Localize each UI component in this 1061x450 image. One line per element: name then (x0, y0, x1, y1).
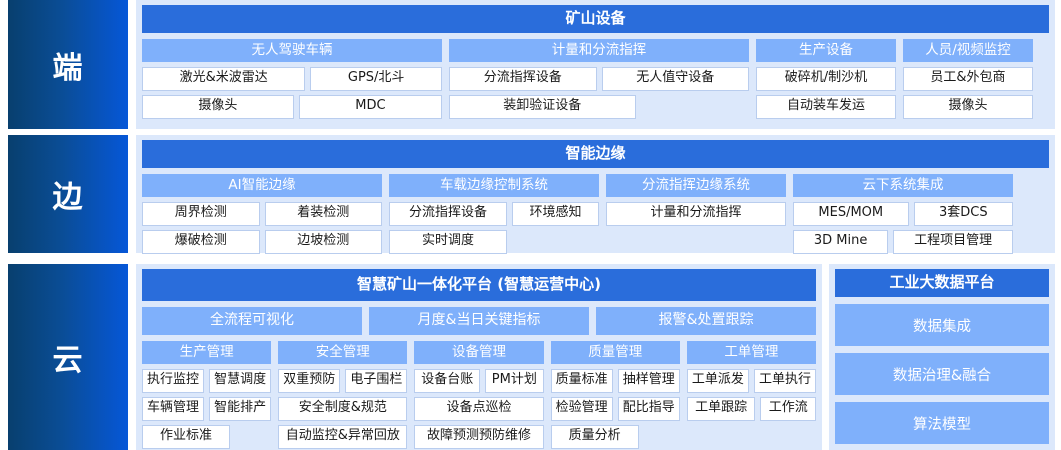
item-cell[interactable]: 摄像头 (142, 95, 294, 119)
panel-title-mine-equipment: 矿山设备 (142, 5, 1049, 33)
group-metering-dispatch: 计量和分流指挥 分流指挥设备 无人值守设备 装卸验证设备 (449, 39, 749, 123)
group-head-safety-management: 安全管理 (278, 341, 407, 364)
bigdata-card[interactable]: 数据治理&融合 (835, 353, 1049, 395)
group-items-vehicle-edge-control: 分流指挥设备 环境感知 实时调度 (389, 202, 599, 254)
item-cell[interactable]: 着装检测 (265, 202, 383, 226)
item-row: 自动监控&异常回放 (278, 425, 407, 449)
item-cell[interactable]: 爆破检测 (142, 230, 260, 254)
item-row: 工单派发 工单执行 (687, 369, 816, 393)
item-cell[interactable]: 激光&米波雷达 (142, 67, 305, 91)
item-cell[interactable]: 摄像头 (903, 95, 1033, 119)
layer-cloud: 云 智慧矿山一体化平台 (智慧运营中心) 全流程可视化 月度&当日关键指标 报警… (0, 264, 1061, 450)
group-workorder-management: 工单管理 工单派发 工单执行 工单跟踪 工作流 (687, 341, 816, 449)
item-cell[interactable]: 检验管理 (551, 397, 613, 421)
bigdata-card[interactable]: 算法模型 (835, 402, 1049, 444)
item-cell[interactable]: 3套DCS (914, 202, 1013, 226)
item-row: 自动装车发运 (756, 95, 896, 119)
item-cell[interactable]: 边坡检测 (265, 230, 383, 254)
item-row: 安全制度&规范 (278, 397, 407, 421)
group-head-cloud-system-integration: 云下系统集成 (793, 174, 1013, 197)
item-cell[interactable]: 工作流 (760, 397, 816, 421)
item-cell[interactable]: 员工&外包商 (903, 67, 1033, 91)
panel-industrial-bigdata: 工业大数据平台 数据集成 数据治理&融合 算法模型 (829, 264, 1055, 450)
panel-intelligent-edge: 智能边缘 AI智能边缘 周界检测 着装检测 爆破检测 边坡检测 (136, 135, 1055, 253)
item-row: 设备点巡检 (414, 397, 543, 421)
item-cell[interactable]: 工单派发 (687, 369, 749, 393)
item-row: 故障预测预防维修 (414, 425, 543, 449)
item-row: 分流指挥设备 无人值守设备 (449, 67, 749, 91)
item-row (687, 425, 816, 447)
item-cell[interactable]: 车辆管理 (142, 397, 204, 421)
group-vehicle-edge-control: 车载边缘控制系统 分流指挥设备 环境感知 实时调度 (389, 174, 599, 254)
layer-edge: 边 智能边缘 AI智能边缘 周界检测 着装检测 爆破检测 (0, 135, 1061, 253)
banner-row: 全流程可视化 月度&当日关键指标 报警&处置跟踪 (142, 307, 816, 335)
item-cell[interactable]: 智能排产 (209, 397, 271, 421)
item-row: 激光&米波雷达 GPS/北斗 (142, 67, 442, 91)
group-head-metering-dispatch: 计量和分流指挥 (449, 39, 749, 62)
item-cell-empty (512, 230, 599, 254)
group-unmanned-vehicle: 无人驾驶车辆 激光&米波雷达 GPS/北斗 摄像头 MDC (142, 39, 442, 123)
bigdata-card-stack: 数据集成 数据治理&融合 算法模型 (835, 304, 1049, 444)
item-cell[interactable]: 工单执行 (754, 369, 816, 393)
group-strip-cloud: 生产管理 执行监控 智慧调度 车辆管理 智能排产 作业标准 (142, 341, 816, 449)
panel-title-smart-mine-platform: 智慧矿山一体化平台 (智慧运营中心) (142, 269, 816, 301)
group-items-workorder-management: 工单派发 工单执行 工单跟踪 工作流 (687, 369, 816, 447)
item-cell-empty (687, 425, 749, 447)
item-cell[interactable]: 故障预测预防维修 (414, 425, 543, 449)
item-cell[interactable]: 实时调度 (389, 230, 507, 254)
panel-title-intelligent-edge: 智能边缘 (142, 140, 1049, 168)
group-cloud-system-integration: 云下系统集成 MES/MOM 3套DCS 3D Mine 工程项目管理 (793, 174, 1013, 254)
item-row: 质量标准 抽样管理 (551, 369, 680, 393)
group-items-personnel-video: 员工&外包商 摄像头 (903, 67, 1033, 119)
group-items-quality-management: 质量标准 抽样管理 检验管理 配比指导 质量分析 (551, 369, 680, 449)
item-cell[interactable]: 双重预防 (278, 369, 340, 393)
item-cell-empty (606, 230, 786, 252)
item-row: 摄像头 (903, 95, 1033, 119)
item-row: 分流指挥设备 环境感知 (389, 202, 599, 226)
layer-label-edge: 边 (8, 135, 128, 253)
item-cell[interactable]: 工程项目管理 (893, 230, 1013, 254)
item-cell[interactable]: 自动监控&异常回放 (278, 425, 407, 449)
item-cell[interactable]: 计量和分流指挥 (606, 202, 786, 226)
item-cell[interactable]: 环境感知 (512, 202, 599, 226)
item-row: 3D Mine 工程项目管理 (793, 230, 1013, 254)
group-items-unmanned-vehicle: 激光&米波雷达 GPS/北斗 摄像头 MDC (142, 67, 442, 119)
panel-mine-equipment: 矿山设备 无人驾驶车辆 激光&米波雷达 GPS/北斗 摄像头 MDC (136, 0, 1055, 129)
item-cell[interactable]: 自动装车发运 (756, 95, 896, 119)
bigdata-card[interactable]: 数据集成 (835, 304, 1049, 346)
item-row: 破碎机/制沙机 (756, 67, 896, 91)
group-quality-management: 质量管理 质量标准 抽样管理 检验管理 配比指导 质量分析 (551, 341, 680, 449)
item-cell[interactable]: MDC (299, 95, 442, 119)
group-head-dispatch-edge-system: 分流指挥边缘系统 (606, 174, 786, 197)
item-row: 爆破检测 边坡检测 (142, 230, 382, 254)
group-strip-end: 无人驾驶车辆 激光&米波雷达 GPS/北斗 摄像头 MDC (142, 39, 1049, 123)
item-cell[interactable]: 配比指导 (618, 397, 680, 421)
item-row (606, 230, 786, 252)
item-row: 实时调度 (389, 230, 599, 254)
item-row: 工单跟踪 工作流 (687, 397, 816, 421)
item-cell[interactable]: 质量分析 (551, 425, 639, 449)
group-items-equipment-management: 设备台账 PM计划 设备点巡检 故障预测预防维修 (414, 369, 543, 449)
item-row: 计量和分流指挥 (606, 202, 786, 226)
group-head-production-management: 生产管理 (142, 341, 271, 364)
group-ai-edge: AI智能边缘 周界检测 着装检测 爆破检测 边坡检测 (142, 174, 382, 254)
group-equipment-management: 设备管理 设备台账 PM计划 设备点巡检 故障预测预防维修 (414, 341, 543, 449)
group-items-ai-edge: 周界检测 着装检测 爆破检测 边坡检测 (142, 202, 382, 254)
item-row: 装卸验证设备 (449, 95, 749, 119)
item-cell[interactable]: 执行监控 (142, 369, 204, 393)
item-row: 检验管理 配比指导 (551, 397, 680, 421)
item-row: 周界检测 着装检测 (142, 202, 382, 226)
group-head-equipment-management: 设备管理 (414, 341, 543, 364)
item-cell[interactable]: 无人值守设备 (602, 67, 750, 91)
group-head-ai-edge: AI智能边缘 (142, 174, 382, 197)
item-row: 执行监控 智慧调度 (142, 369, 271, 393)
group-items-production-management: 执行监控 智慧调度 车辆管理 智能排产 作业标准 (142, 369, 271, 449)
item-row: 设备台账 PM计划 (414, 369, 543, 393)
item-cell-empty (644, 425, 680, 449)
architecture-diagram: 端 矿山设备 无人驾驶车辆 激光&米波雷达 GPS/北斗 摄像头 (0, 0, 1061, 450)
item-cell-empty (641, 95, 750, 119)
layer-label-cloud: 云 (8, 264, 128, 450)
item-row: 双重预防 电子围栏 (278, 369, 407, 393)
layer-body-cloud: 智慧矿山一体化平台 (智慧运营中心) 全流程可视化 月度&当日关键指标 报警&处… (136, 264, 1055, 450)
item-cell[interactable]: 抽样管理 (618, 369, 680, 393)
group-items-dispatch-edge-system: 计量和分流指挥 (606, 202, 786, 252)
item-cell[interactable]: GPS/北斗 (310, 67, 442, 91)
group-head-quality-management: 质量管理 (551, 341, 680, 364)
panel-title-industrial-bigdata: 工业大数据平台 (835, 269, 1049, 297)
group-production-management: 生产管理 执行监控 智慧调度 车辆管理 智能排产 作业标准 (142, 341, 271, 449)
group-head-production-equipment: 生产设备 (756, 39, 896, 62)
group-dispatch-edge-system: 分流指挥边缘系统 计量和分流指挥 (606, 174, 786, 254)
item-cell-empty (235, 425, 271, 449)
layer-body-end: 矿山设备 无人驾驶车辆 激光&米波雷达 GPS/北斗 摄像头 MDC (136, 0, 1055, 129)
group-head-workorder-management: 工单管理 (687, 341, 816, 364)
item-row: 员工&外包商 (903, 67, 1033, 91)
item-cell[interactable]: 装卸验证设备 (449, 95, 636, 119)
item-cell[interactable]: 3D Mine (793, 230, 888, 254)
item-cell[interactable]: 分流指挥设备 (389, 202, 507, 226)
item-cell[interactable]: 作业标准 (142, 425, 230, 449)
item-cell[interactable]: 分流指挥设备 (449, 67, 597, 91)
group-personnel-video: 人员/视频监控 员工&外包商 摄像头 (903, 39, 1033, 123)
item-cell[interactable]: 电子围栏 (345, 369, 407, 393)
item-row: 摄像头 MDC (142, 95, 442, 119)
group-items-safety-management: 双重预防 电子围栏 安全制度&规范 自动监控&异常回放 (278, 369, 407, 449)
banner-card[interactable]: 月度&当日关键指标 (369, 307, 589, 335)
item-row: 作业标准 (142, 425, 271, 449)
group-items-metering-dispatch: 分流指挥设备 无人值守设备 装卸验证设备 (449, 67, 749, 119)
group-items-cloud-system-integration: MES/MOM 3套DCS 3D Mine 工程项目管理 (793, 202, 1013, 254)
item-row: 质量分析 (551, 425, 680, 449)
item-cell[interactable]: 安全制度&规范 (278, 397, 407, 421)
group-head-unmanned-vehicle: 无人驾驶车辆 (142, 39, 442, 62)
layer-label-end: 端 (8, 0, 128, 129)
item-cell[interactable]: MES/MOM (793, 202, 909, 226)
item-cell[interactable]: PM计划 (485, 369, 544, 393)
layer-end: 端 矿山设备 无人驾驶车辆 激光&米波雷达 GPS/北斗 摄像头 (0, 0, 1061, 129)
layer-body-edge: 智能边缘 AI智能边缘 周界检测 着装检测 爆破检测 边坡检测 (136, 135, 1055, 253)
group-strip-edge: AI智能边缘 周界检测 着装检测 爆破检测 边坡检测 (142, 174, 1049, 254)
group-items-production-equipment: 破碎机/制沙机 自动装车发运 (756, 67, 896, 119)
item-cell[interactable]: 设备点巡检 (414, 397, 543, 421)
banner-card[interactable]: 全流程可视化 (142, 307, 362, 335)
group-safety-management: 安全管理 双重预防 电子围栏 安全制度&规范 自动监控&异常回放 (278, 341, 407, 449)
item-cell[interactable]: 质量标准 (551, 369, 613, 393)
group-production-equipment: 生产设备 破碎机/制沙机 自动装车发运 (756, 39, 896, 123)
panel-smart-mine-platform: 智慧矿山一体化平台 (智慧运营中心) 全流程可视化 月度&当日关键指标 报警&处… (136, 264, 822, 450)
item-cell[interactable]: 设备台账 (414, 369, 480, 393)
item-cell[interactable]: 破碎机/制沙机 (756, 67, 896, 91)
item-row: 车辆管理 智能排产 (142, 397, 271, 421)
group-head-personnel-video: 人员/视频监控 (903, 39, 1033, 62)
group-head-vehicle-edge-control: 车载边缘控制系统 (389, 174, 599, 197)
item-cell[interactable]: 工单跟踪 (687, 397, 756, 421)
banner-card[interactable]: 报警&处置跟踪 (596, 307, 816, 335)
item-row: MES/MOM 3套DCS (793, 202, 1013, 226)
item-cell[interactable]: 周界检测 (142, 202, 260, 226)
item-cell[interactable]: 智慧调度 (209, 369, 271, 393)
item-cell-empty (754, 425, 816, 447)
